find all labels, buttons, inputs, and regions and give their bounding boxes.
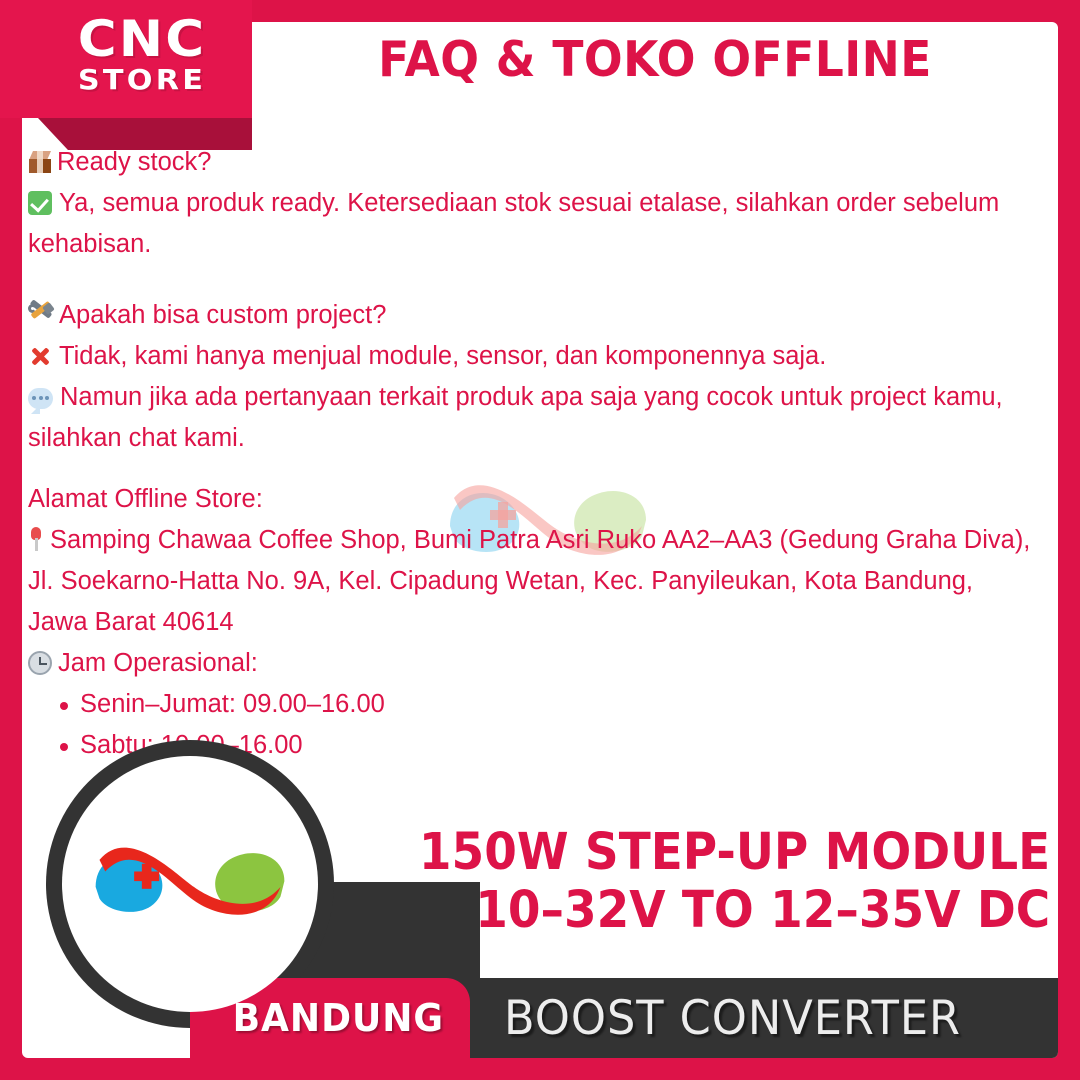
address-heading: Alamat Offline Store: xyxy=(28,479,1032,520)
infinity-logo-icon xyxy=(86,830,294,938)
cross-mark-icon xyxy=(28,344,52,368)
page-title: FAQ & TOKO OFFLINE xyxy=(280,0,1030,118)
faq-answer-2: Tidak, kami hanya menjual module, sensor… xyxy=(28,336,1032,377)
faq-answer-1: Ya, semua produk ready. Ketersediaan sto… xyxy=(28,183,1032,265)
brand-logo-cnc: CNC xyxy=(68,14,216,64)
brand-ribbon: CNC STORE xyxy=(0,0,252,118)
faq-answer-1-text: Ya, semua produk ready. Ketersediaan sto… xyxy=(28,189,999,258)
faq-question-2: Apakah bisa custom project? xyxy=(28,295,1032,336)
check-mark-icon xyxy=(28,191,52,215)
brand-logo: CNC STORE xyxy=(72,14,212,94)
faq-question-1-text: Ready stock? xyxy=(57,148,212,176)
clock-icon xyxy=(28,651,52,675)
tools-icon xyxy=(28,303,54,327)
logo-badge xyxy=(62,756,318,1012)
category-label: BOOST CONVERTER xyxy=(504,991,961,1046)
brand-logo-store: STORE xyxy=(66,66,217,94)
address-line-1-text: Samping Chawaa Coffee Shop, Bumi Patra A… xyxy=(50,526,1030,554)
location-pin-icon xyxy=(28,527,44,552)
address-line-3: Jawa Barat 40614 xyxy=(28,602,1032,643)
address-line-2: Jl. Soekarno-Hatta No. 9A, Kel. Cipadung… xyxy=(28,561,1032,602)
package-icon xyxy=(28,151,52,174)
city-badge-label: BANDUNG xyxy=(233,996,444,1040)
faq-note-2: Namun jika ada pertanyaan terkait produk… xyxy=(28,377,1032,459)
poster-root: CNC STORE FAQ & TOKO OFFLINE Ready stock… xyxy=(0,0,1080,1080)
hours-heading-text: Jam Operasional: xyxy=(58,649,258,677)
product-title-line2: 10–32V TO 12–35V DC xyxy=(419,882,1050,940)
faq-question-2-text: Apakah bisa custom project? xyxy=(59,301,386,329)
list-item: Senin–Jumat: 09.00–16.00 xyxy=(56,684,1032,725)
spacer xyxy=(28,459,1032,479)
product-title: 150W STEP-UP MODULE 10–32V TO 12–35V DC xyxy=(419,824,1050,940)
hours-heading: Jam Operasional: xyxy=(28,643,1032,684)
faq-answer-2-text: Tidak, kami hanya menjual module, sensor… xyxy=(59,342,826,370)
ribbon-fold-shadow xyxy=(38,118,252,150)
product-title-line1: 150W STEP-UP MODULE xyxy=(419,824,1050,882)
spacer xyxy=(28,265,1032,295)
category-bar: BOOST CONVERTER xyxy=(452,978,1058,1058)
header: CNC STORE FAQ & TOKO OFFLINE xyxy=(0,0,1080,128)
faq-note-2-text: Namun jika ada pertanyaan terkait produk… xyxy=(28,383,1003,452)
speech-balloon-icon xyxy=(28,388,53,409)
address-line-1: Samping Chawaa Coffee Shop, Bumi Patra A… xyxy=(28,520,1032,561)
